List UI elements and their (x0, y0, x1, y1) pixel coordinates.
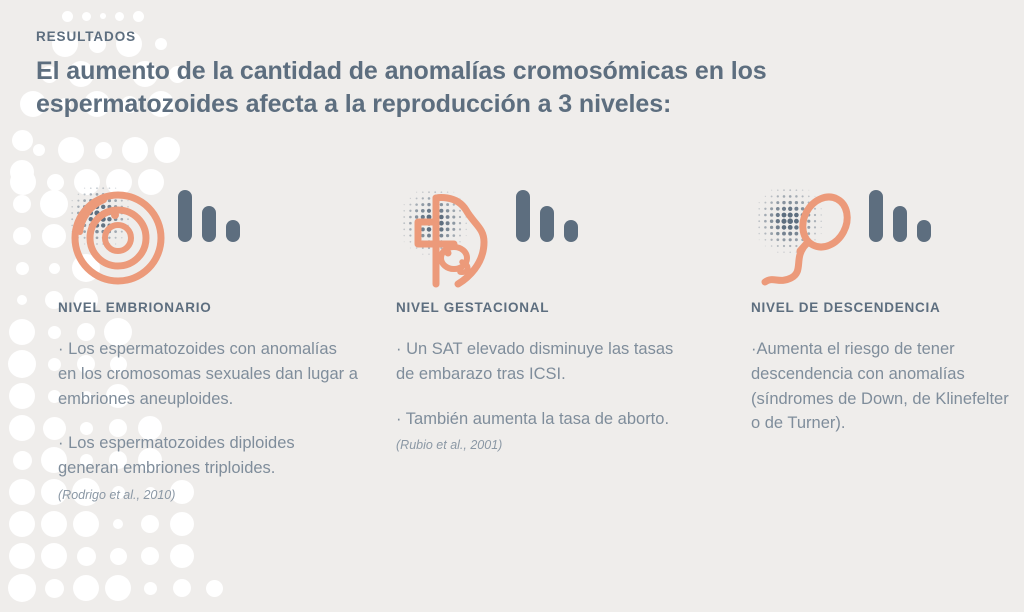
top-dot (62, 11, 73, 22)
icon-row (751, 180, 1013, 300)
decorative-dot (12, 130, 33, 151)
page-title: El aumento de la cantidad de anomalías c… (36, 55, 876, 121)
column-title: NIVEL GESTACIONAL (396, 300, 696, 315)
slide-header: RESULTADOS El aumento de la cantidad de … (36, 30, 876, 121)
embryo-cell-icon (58, 180, 258, 300)
icon-row (396, 180, 696, 300)
sperm-cell-icon (751, 180, 951, 300)
level-column: NIVEL GESTACIONAL· Un SAT elevado dismin… (396, 180, 696, 454)
level-column: NIVEL DE DESCENDENCIA·Aumenta el riesgo … (751, 180, 1013, 442)
decorative-dot (122, 137, 148, 163)
level-column: NIVEL EMBRIONARIO· Los espermatozoides c… (58, 180, 358, 503)
top-dot (100, 13, 106, 19)
decorative-dot (33, 144, 45, 156)
slide-canvas: RESULTADOS El aumento de la cantidad de … (0, 0, 1024, 612)
citation: (Rubio et al., 2001) (396, 437, 696, 453)
top-dot (82, 12, 91, 21)
column-title: NIVEL DE DESCENDENCIA (751, 300, 1013, 315)
bullet-text: · Los espermatozoides con anomalías en l… (58, 337, 358, 411)
bullet-text: · Un SAT elevado disminuye las tasas de … (396, 337, 696, 387)
bullet-text: · Los espermatozoides diploides generan … (58, 431, 358, 481)
pregnant-woman-icon (396, 180, 596, 300)
eyebrow-label: RESULTADOS (36, 30, 876, 45)
decorative-dot (58, 137, 84, 163)
bullet-text: ·Aumenta el riesgo de tener descendencia… (751, 337, 1013, 436)
top-dot (133, 11, 144, 22)
column-title: NIVEL EMBRIONARIO (58, 300, 358, 315)
decorative-dot (95, 142, 112, 159)
top-dot (115, 12, 124, 21)
bullet-text: · También aumenta la tasa de aborto. (396, 407, 696, 432)
decorative-dot (154, 137, 180, 163)
citation: (Rodrigo et al., 2010) (58, 487, 358, 503)
top-dot-row (62, 6, 144, 26)
icon-row (58, 180, 358, 300)
columns-container: NIVEL EMBRIONARIO· Los espermatozoides c… (0, 180, 1024, 600)
